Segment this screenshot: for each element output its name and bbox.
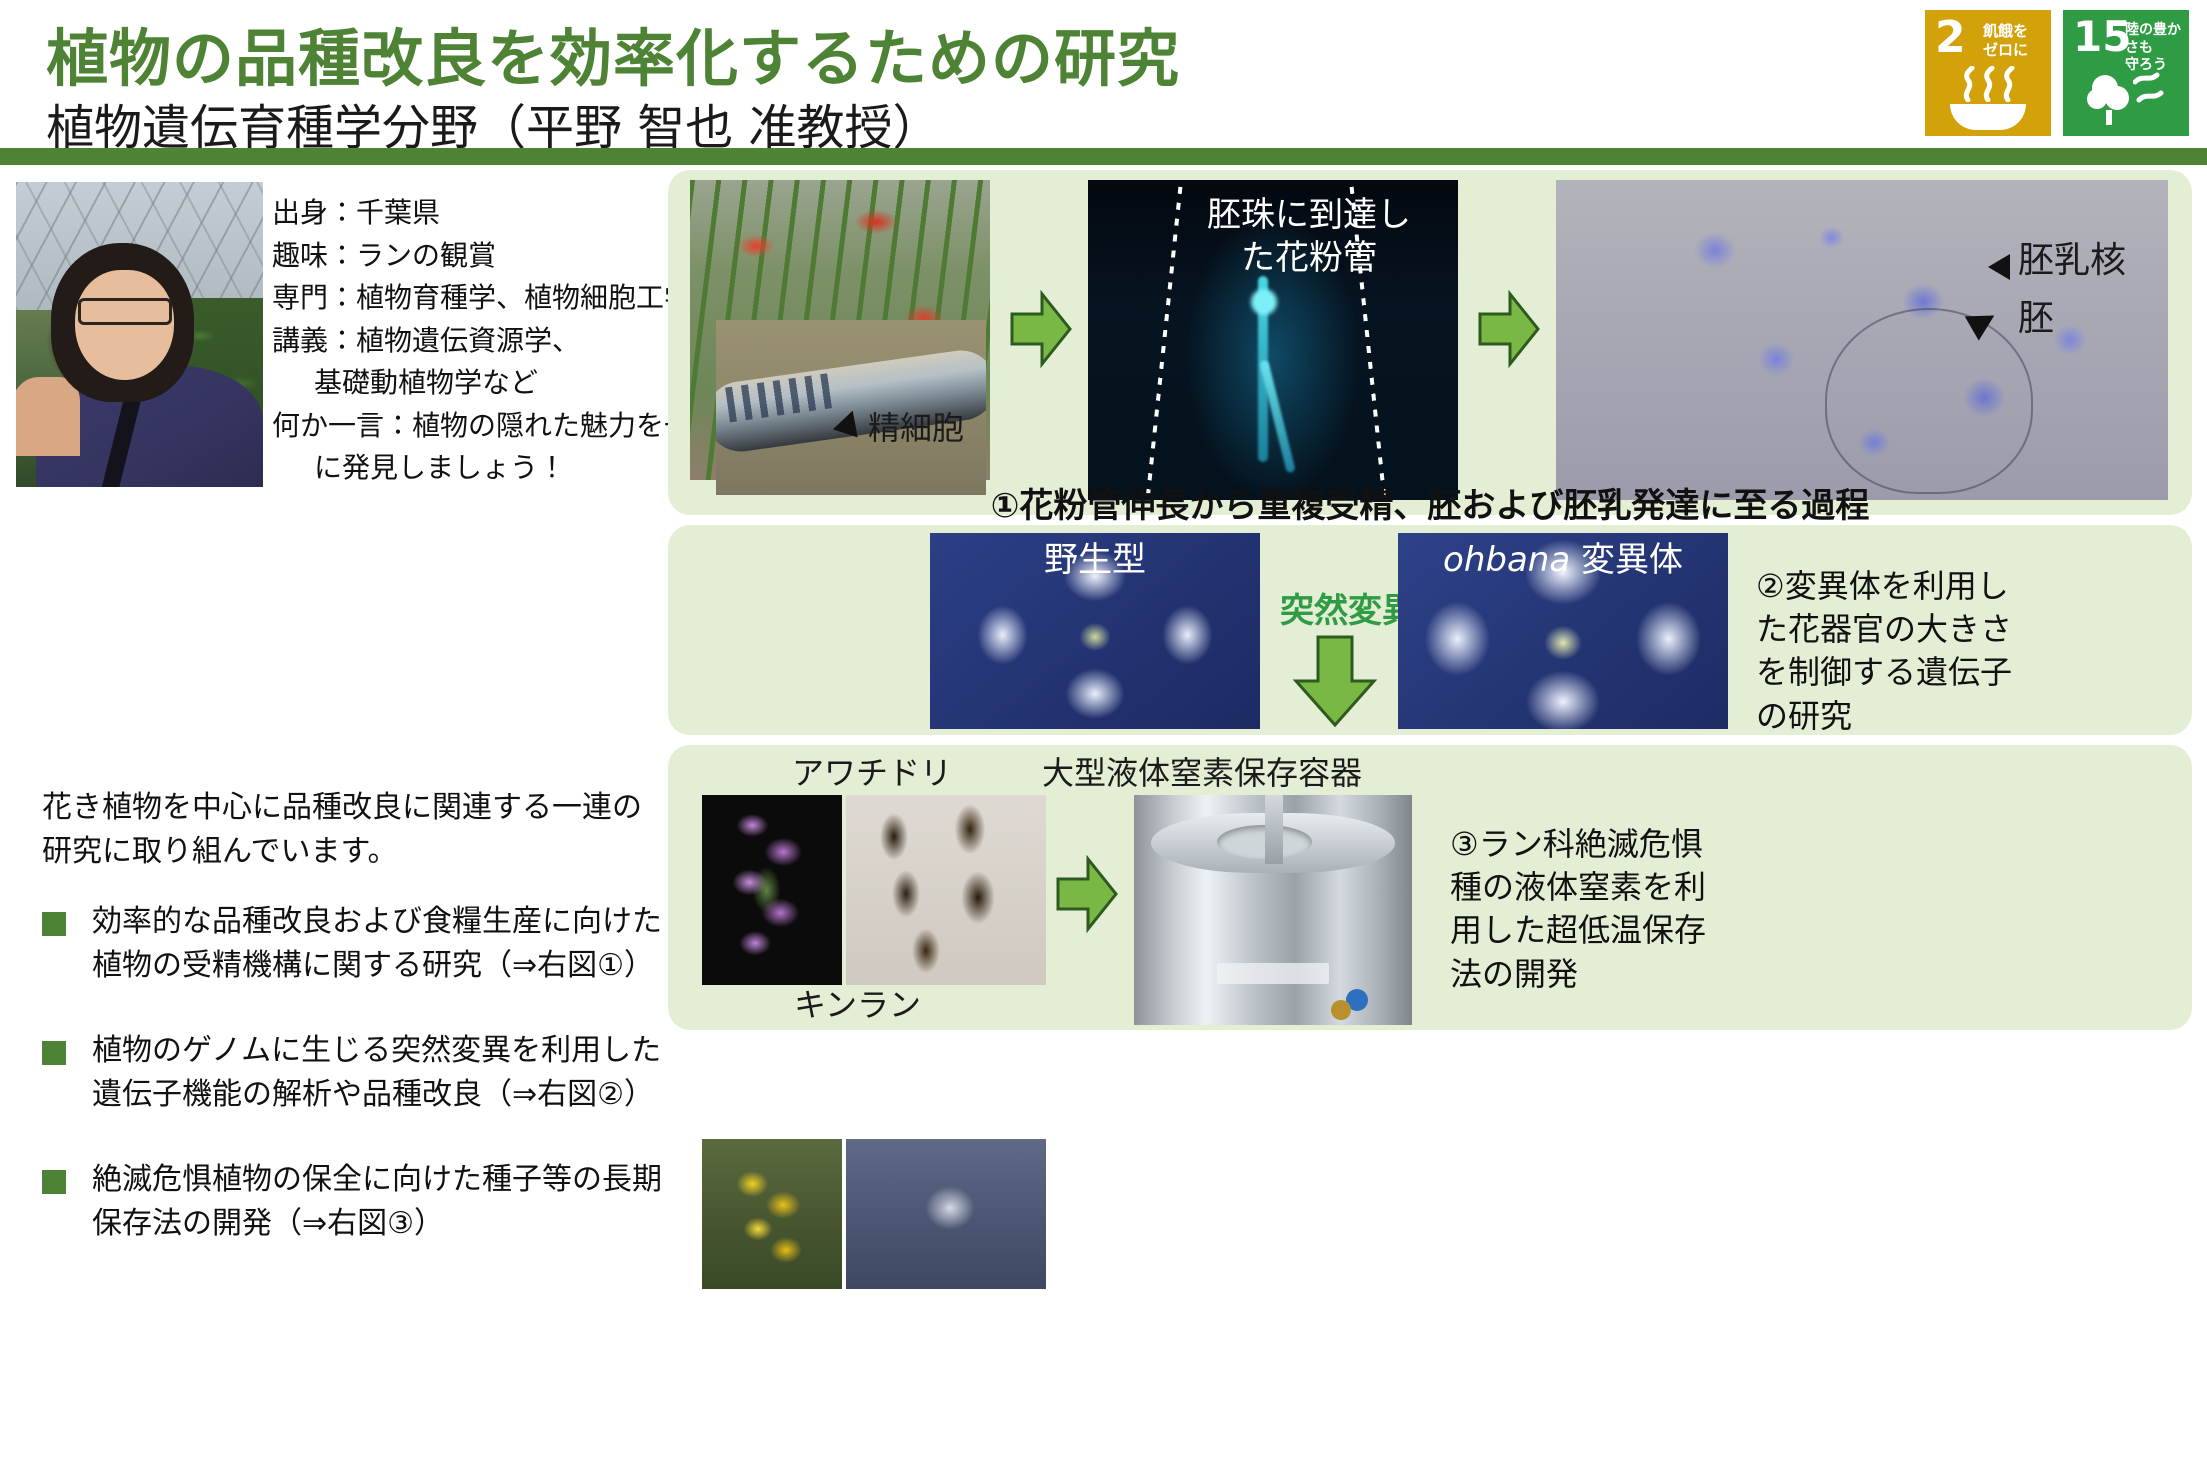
sdg-icon-row: 2 飢餓を ゼロに 15 陸の豊かさも 守ろう	[1925, 10, 2189, 136]
awachidori-orchid-photo	[702, 795, 842, 985]
embryo-endosperm-micrograph: 胚乳核 胚	[1556, 180, 2168, 500]
ohbana-mutant-flower: ohbana 変異体	[1398, 533, 1728, 729]
header-divider	[0, 148, 2207, 165]
profile-line-lectures: 講義：植物遺伝資源学、	[272, 320, 692, 363]
bullet-text: 絶滅危惧植物の保全に向けた種子等の長期 保存法の開発（⇒右図③）	[92, 1158, 662, 1245]
mutation-arrow-label: 突然変異	[1280, 583, 1416, 632]
professor-photo	[16, 182, 263, 487]
mutant-label-rest: 変異体	[1570, 540, 1683, 580]
panel-2-mutant: 野生型 突然変異 ohbana 変異体 ②変異体を利用し た花器官の大きさ を制…	[668, 525, 2192, 735]
sdg-goal-2-number: 2	[1935, 16, 1966, 60]
sperm-nucleus-blob	[1251, 289, 1277, 315]
panel-2-side-caption: ②変異体を利用し た花器官の大きさ を制御する遺伝子 の研究	[1756, 565, 2012, 738]
flow-arrow-1-icon	[1010, 290, 1072, 368]
pollen-tube-micrograph: 精細胞	[716, 320, 986, 495]
ovule-outline-left	[1146, 187, 1183, 500]
bullet-text: 植物のゲノムに生じる突然変異を利用した 遺伝子機能の解析や品種改良（⇒右図②）	[92, 1029, 661, 1116]
wildtype-flower: 野生型	[930, 533, 1260, 729]
list-item: 効率的な品種改良および食糧生産に向けた 植物の受精機構に関する研究（⇒右図①）	[42, 900, 682, 987]
fluorescent-pollen-tube: 胚珠に到達し た花粉管	[1088, 180, 1458, 500]
sdg-goal-2-badge: 2 飢餓を ゼロに	[1925, 10, 2051, 136]
flow-arrow-2-icon	[1478, 290, 1540, 368]
panel-3-side-caption: ③ラン科絶滅危惧 種の液体窒素を利 用した超低温保存 法の開発	[1450, 823, 1706, 996]
tree-birds-icon	[2063, 70, 2189, 132]
profile-line-message: 何か一言：植物の隠れた魅力を一緒	[272, 405, 692, 448]
kinran-label: キンラン	[794, 985, 921, 1025]
tank-nameplate	[1217, 963, 1328, 984]
research-intro: 花き植物を中心に品種改良に関連する一連の 研究に取り組んでいます。	[42, 786, 662, 873]
poster-page: 植物の品種改良を効率化するための研究 植物遺伝育種学分野（平野 智也 准教授） …	[0, 0, 2207, 1457]
sdg-goal-15-badge: 15 陸の豊かさも 守ろう	[2063, 10, 2189, 136]
tank-valve-yellow	[1331, 1000, 1351, 1020]
research-bullet-list: 効率的な品種改良および食糧生産に向けた 植物の受精機構に関する研究（⇒右図①） …	[42, 900, 682, 1287]
glasses-icon	[78, 298, 172, 325]
endosperm-nucleus-arrow-icon	[1988, 254, 2010, 280]
bullet-square-icon	[42, 1041, 66, 1065]
kinran-orchid-photo	[702, 1139, 842, 1289]
orchid-seeds-micrograph	[846, 795, 1046, 985]
bowl-steam-icon	[1925, 70, 2051, 132]
liquid-nitrogen-tank-photo	[1134, 795, 1412, 1025]
endosperm-nucleus-label: 胚乳核	[2018, 238, 2126, 283]
protocorm-micrograph	[846, 1139, 1046, 1289]
bullet-square-icon	[42, 1170, 66, 1194]
embryo-sac-outline	[1825, 308, 2033, 494]
panel-3-cryopreservation: アワチドリ 大型液体窒素保存容器 キンラン ③ラン科絶滅危惧 種の液体窒素を利 …	[668, 745, 2192, 1030]
profile-line-specialty: 専門：植物育種学、植物細胞工学	[272, 277, 692, 320]
profile-text-block: 出身：千葉県 趣味：ランの観賞 専門：植物育種学、植物細胞工学 講義：植物遺伝資…	[272, 192, 692, 490]
arm	[16, 377, 80, 456]
panel-1-fertilization: 精細胞 胚珠に到達し た花粉管 胚乳核 胚	[668, 170, 2192, 515]
mutant-label: ohbana 変異体	[1398, 539, 1728, 582]
sdg-goal-15-label: 陸の豊かさも 守ろう	[2125, 22, 2187, 75]
awachidori-label: アワチドリ	[792, 753, 952, 793]
liquid-nitrogen-tank-label: 大型液体窒素保存容器	[1042, 753, 1362, 793]
tank-probe	[1265, 795, 1283, 864]
page-title: 植物の品種改良を効率化するための研究	[46, 8, 1180, 98]
bullet-text: 効率的な品種改良および食糧生産に向けた 植物の受精機構に関する研究（⇒右図①）	[92, 900, 662, 987]
sperm-cell-label: 精細胞	[868, 408, 964, 448]
embryo-label: 胚	[2018, 296, 2054, 341]
flow-arrow-4-icon	[1056, 855, 1118, 933]
flow-arrow-3-icon	[1292, 635, 1378, 727]
bullet-square-icon	[42, 912, 66, 936]
panel-1-caption: ①花粉管伸長から重複受精、胚および胚乳発達に至る過程	[668, 478, 2192, 527]
profile-line-lectures-cont: 基礎動植物学など	[272, 362, 692, 405]
mutant-gene-name: ohbana	[1443, 540, 1570, 580]
sdg-goal-2-label: 飢餓を ゼロに	[1983, 22, 2049, 60]
list-item: 絶滅危惧植物の保全に向けた種子等の長期 保存法の開発（⇒右図③）	[42, 1158, 682, 1245]
profile-line-message-cont: に発見しましょう！	[272, 447, 692, 490]
face	[75, 270, 174, 380]
bowl-shape-icon	[1950, 104, 2026, 130]
list-item: 植物のゲノムに生じる突然変異を利用した 遺伝子機能の解析や品種改良（⇒右図②）	[42, 1029, 682, 1116]
profile-line-hobby: 趣味：ランの観賞	[272, 235, 692, 278]
sdg-goal-15-number: 15	[2073, 16, 2131, 58]
wildtype-label: 野生型	[930, 539, 1260, 582]
profile-line-origin: 出身：千葉県	[272, 192, 692, 235]
ovule-reached-label: 胚珠に到達し た花粉管	[1184, 194, 1434, 279]
